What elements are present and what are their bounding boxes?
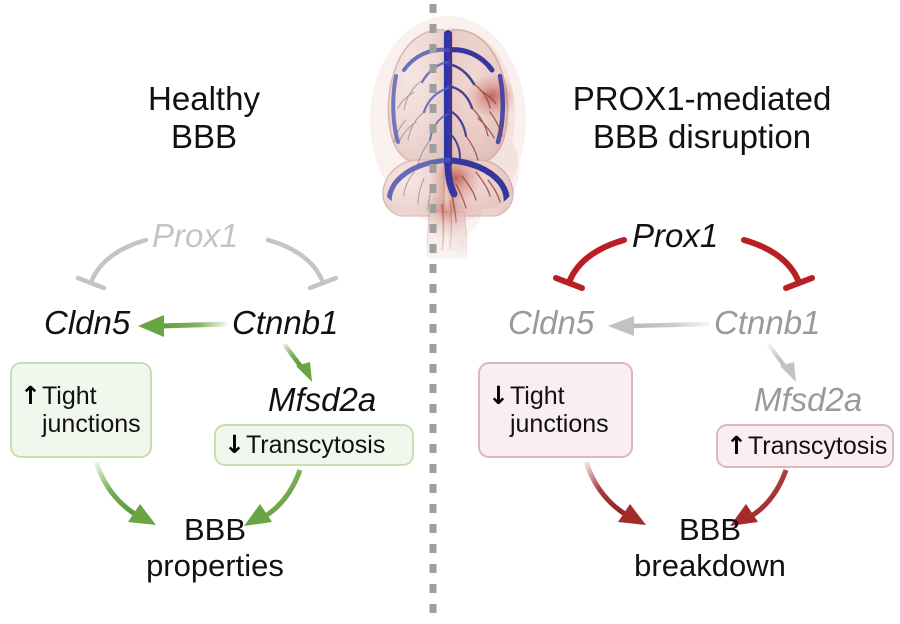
panel-title-disruption: PROX1-mediated BBB disruption [522,80,882,156]
gene-label-prox1-right[interactable]: Prox1 [632,218,718,254]
outcome-box-label: Transcytosis [748,432,887,460]
mouse-brain-dorsal-view [370,16,528,270]
gene-label-mfsd2a-right[interactable]: Mfsd2a [754,382,862,418]
down-arrow-icon: ↓ [224,431,245,458]
outcome-box-label: Tight junctions [42,382,141,438]
gene-label-cldn5-right[interactable]: Cldn5 [508,305,594,341]
outcome-box-transcytosis-right[interactable]: ↑ Transcytosis [716,424,894,468]
gene-label-cldn5-left[interactable]: Cldn5 [44,305,130,341]
outcome-label-bbb-properties: BBB properties [70,512,360,584]
edge-prox1-inhibits-ctnnb1-right [744,240,812,288]
up-arrow-icon: ↑ [726,432,747,459]
panel-title-healthy: Healthy BBB [44,80,364,156]
edge-prox1-inhibits-cldn5-left [78,240,146,288]
down-arrow-icon: ↓ [488,382,509,409]
edge-prox1-inhibits-cldn5-right [556,240,624,288]
gene-label-ctnnb1-right[interactable]: Ctnnb1 [714,305,820,341]
edge-prox1-inhibits-ctnnb1-left [268,240,336,288]
edge-ctnnb1-activates-cldn5-left [138,315,228,337]
figure-canvas: Healthy BBB PROX1-mediated BBB disruptio… [0,0,900,624]
outcome-box-tight-junctions-left[interactable]: ↑ Tight junctions [10,362,152,458]
outcome-box-label: Tight junctions [510,382,609,438]
up-arrow-icon: ↑ [20,382,41,409]
edge-ctnnb1-activates-mfsd2a-left [284,344,312,382]
gene-label-ctnnb1-left[interactable]: Ctnnb1 [232,305,338,341]
outcome-label-bbb-breakdown: BBB breakdown [560,512,860,584]
outcome-box-label: Transcytosis [246,431,385,459]
gene-label-mfsd2a-left[interactable]: Mfsd2a [268,382,376,418]
edge-ctnnb1-activates-mfsd2a-right [768,344,796,382]
outcome-box-tight-junctions-right[interactable]: ↓ Tight junctions [478,362,633,458]
outcome-box-transcytosis-left[interactable]: ↓ Transcytosis [214,424,414,466]
edge-ctnnb1-activates-cldn5-right [608,316,710,336]
gene-label-prox1-left[interactable]: Prox1 [152,218,238,254]
